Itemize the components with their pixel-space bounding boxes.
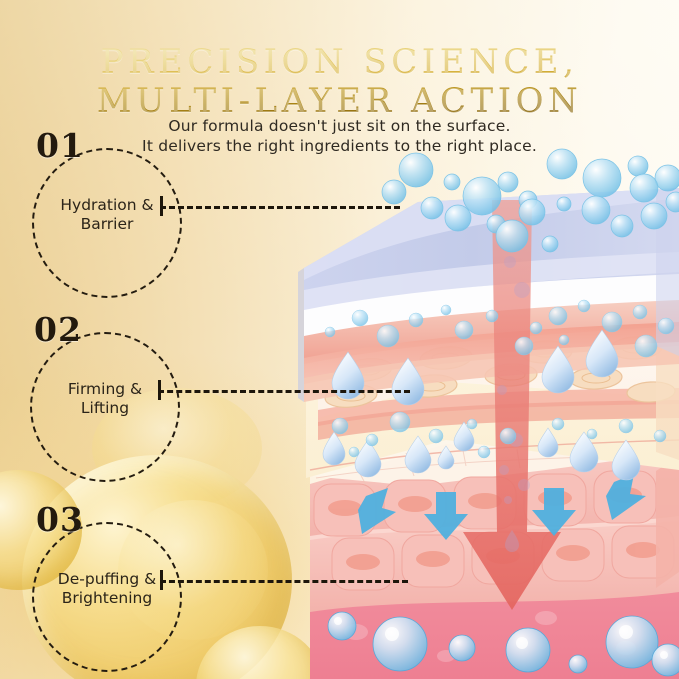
connector-line-3 [160, 580, 408, 583]
step-callout-3[interactable]: 03 De-puffing & Brightening [32, 522, 182, 672]
skin-diagram [296, 140, 679, 679]
step-callout-1[interactable]: 01 Hydration & Barrier [32, 148, 182, 298]
step-number: 01 [36, 126, 84, 165]
connector-line-1 [160, 206, 400, 209]
page-title: PRECISION SCIENCE, MULTI-LAYER ACTION [0, 43, 679, 121]
step-label: Hydration & Barrier [26, 196, 188, 233]
infographic-poster: PRECISION SCIENCE, MULTI-LAYER ACTION Ou… [0, 0, 679, 679]
step-label: Firming & Lifting [24, 380, 186, 417]
connector-line-2 [158, 390, 410, 393]
step-number: 03 [36, 500, 84, 539]
step-callout-2[interactable]: 02 Firming & Lifting [30, 332, 180, 482]
step-number: 02 [34, 310, 82, 349]
step-label: De-puffing & Brightening [26, 570, 188, 607]
